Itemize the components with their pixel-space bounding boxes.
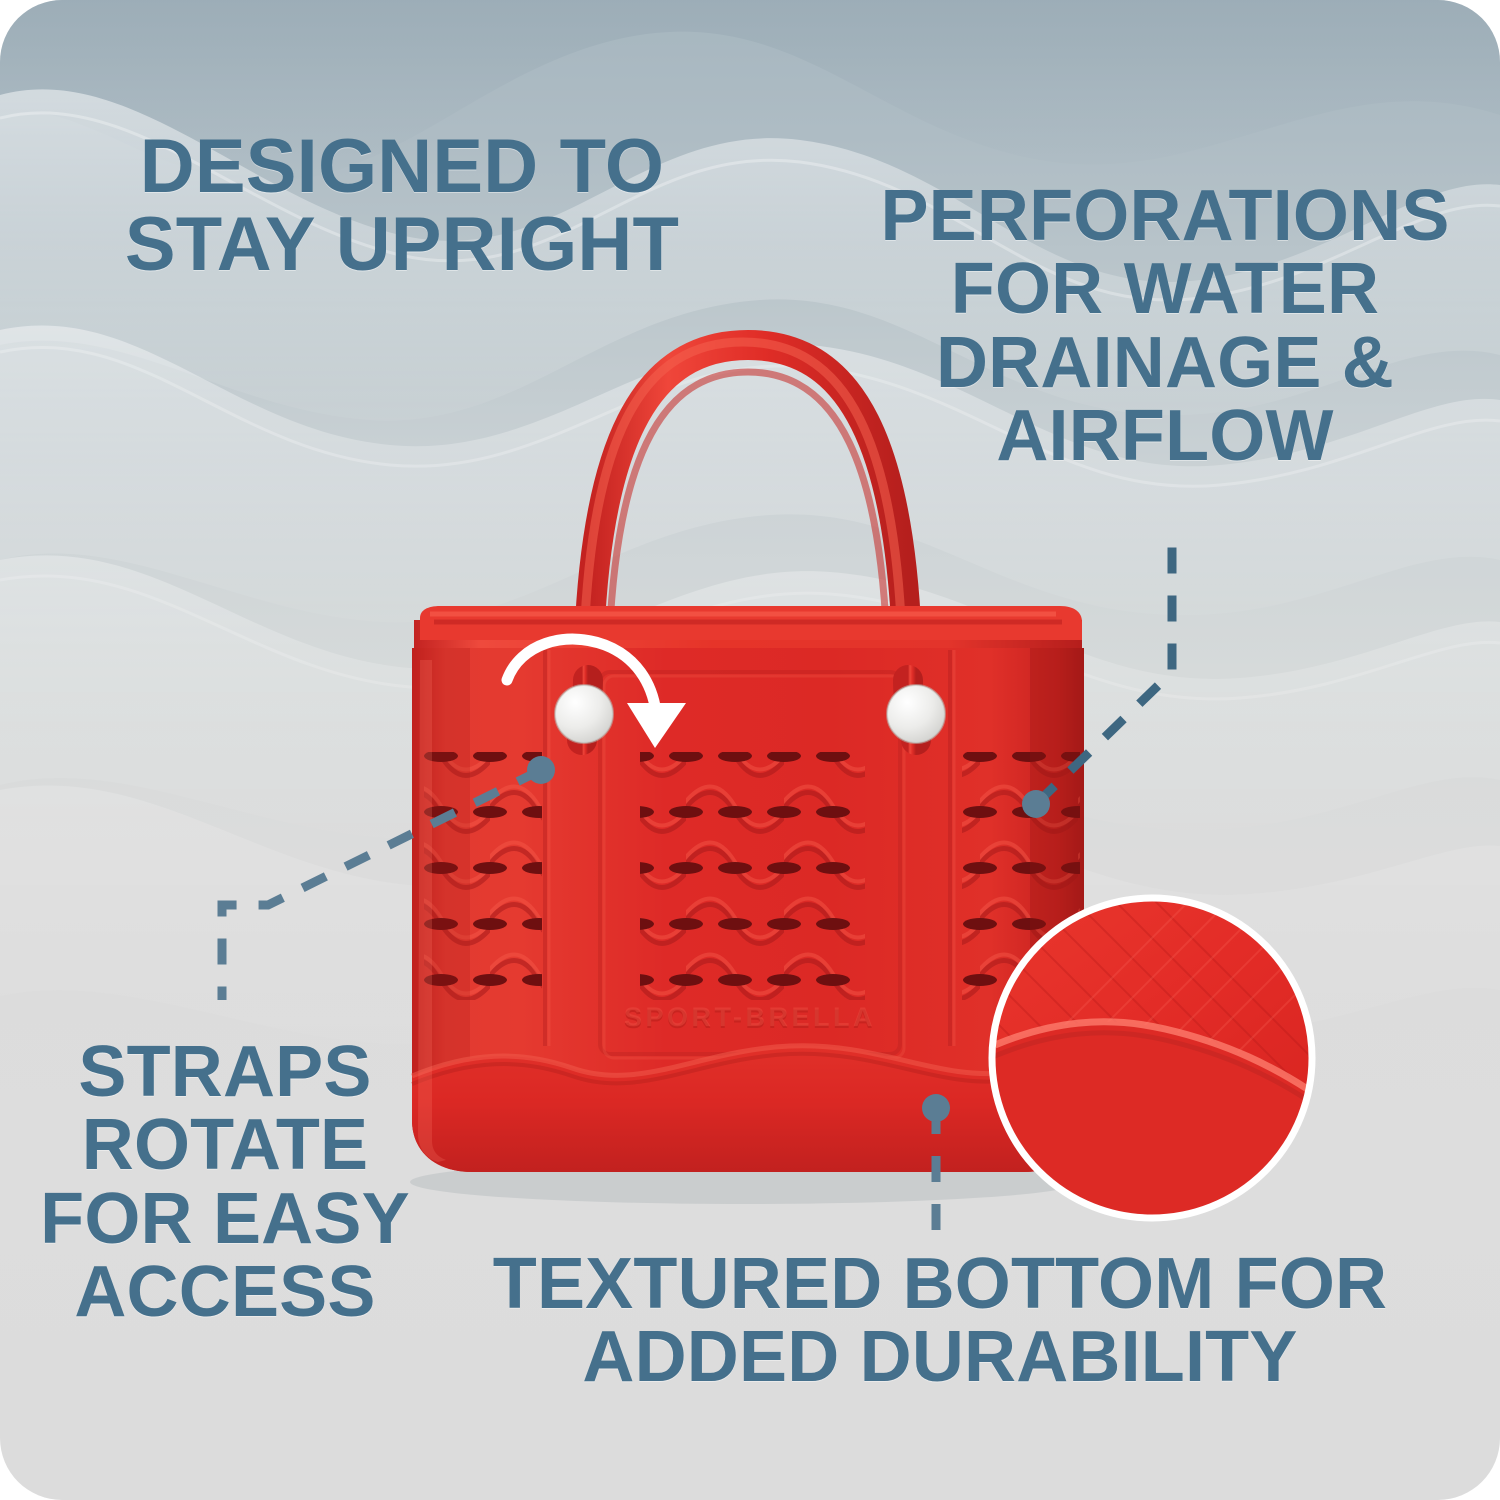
callout-perforations-for-water-drainage-and-airflow: PERFORATIONS FOR WATER DRAINAGE & AIRFLO… [860, 180, 1470, 474]
infographic-canvas: SPORT-BRELLA SPORT-BRELLA [0, 0, 1500, 1500]
callout-textured-bottom-for-added-durability: TEXTURED BOTTOM FOR ADDED DURABILITY [470, 1248, 1410, 1395]
callout-straps-rotate-for-easy-access: STRAPS ROTATE FOR EASY ACCESS [40, 1036, 410, 1330]
callout-designed-to-stay-upright: DESIGNED TO STAY UPRIGHT [92, 128, 712, 283]
product-infographic: SPORT-BRELLA SPORT-BRELLA [0, 0, 1500, 1500]
